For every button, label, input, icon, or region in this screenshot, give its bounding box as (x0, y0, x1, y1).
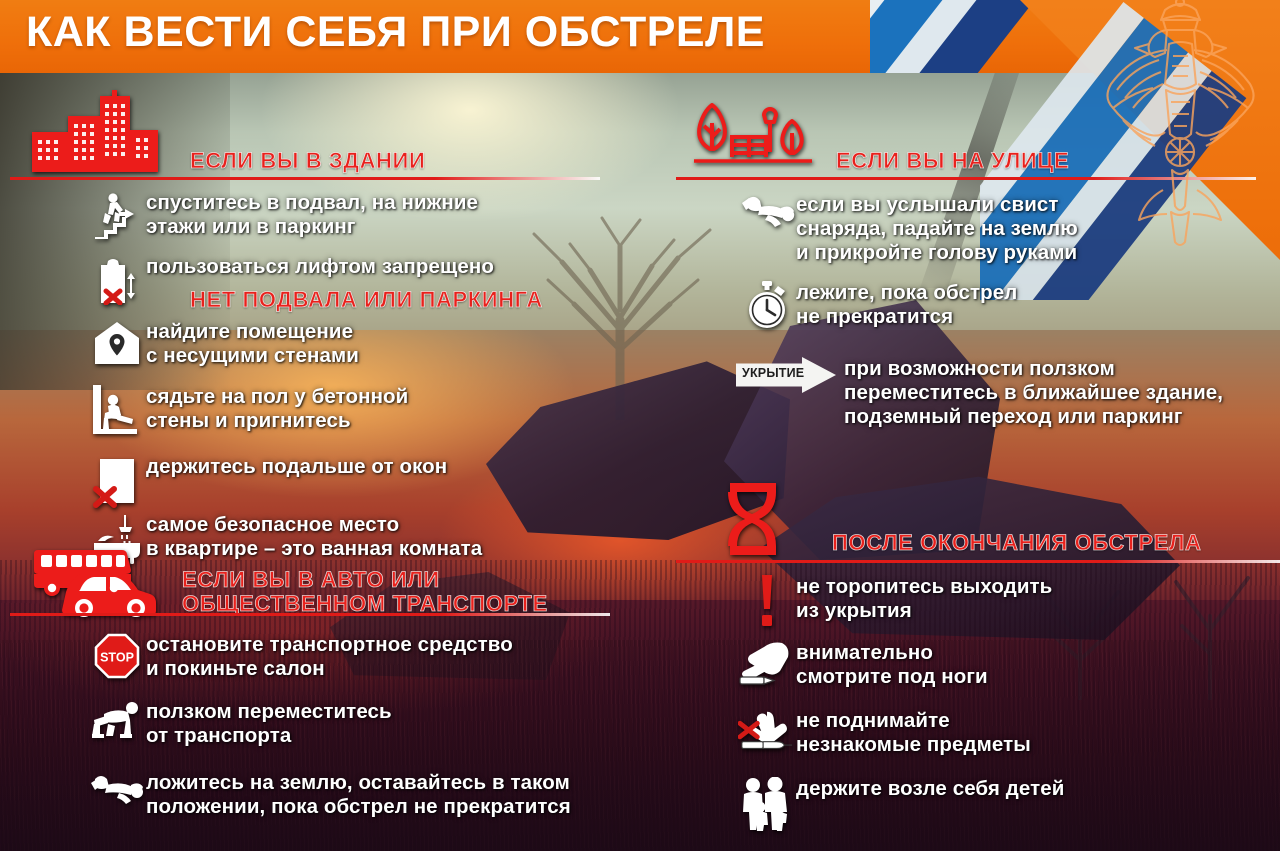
list-item: самое безопасное местов квартире – это в… (88, 513, 628, 565)
list-item: не торопитесь выходитьиз укрытия (738, 575, 1258, 627)
list-item-text: внимательносмотрите под ноги (796, 641, 988, 689)
list-item: найдите помещениес несущими стенами (88, 320, 628, 368)
list-item-text: остановите транспортное средствои покинь… (146, 633, 513, 681)
person-sitting-by-wall-icon (88, 385, 146, 435)
list-item: STOP остановите транспортное средствои п… (88, 633, 648, 681)
section-title-after-shelling: ПОСЛЕ ОКОНЧАНИЯ ОБСТРЕЛА (832, 531, 1201, 555)
no-window-icon (88, 455, 146, 509)
section-rule-in-vehicle (10, 613, 610, 616)
list-item: ползком переместитесьот транспорта (88, 700, 648, 748)
list-item-text: держитесь подальше от окон (146, 455, 447, 479)
family-with-children-icon (738, 777, 796, 831)
poster-content: ЕСЛИ ВЫ В ЗДАНИИ спус (0, 0, 1280, 851)
section-rule-after-shelling (676, 560, 1280, 563)
list-item: ложитесь на землю, оставайтесь в такомпо… (88, 771, 668, 819)
list-item: держитесь подальше от окон (88, 455, 628, 509)
city-buildings-icon (30, 90, 160, 172)
list-item-text: самое безопасное местов квартире – это в… (146, 513, 482, 561)
list-item-text: лежите, пока обстрелне прекратится (796, 281, 1017, 329)
section-rule-in-building (10, 177, 600, 180)
list-item-text: ползком переместитесьот транспорта (146, 700, 392, 748)
no-touching-unknown-object-icon (738, 709, 796, 757)
svg-text:STOP: STOP (100, 651, 134, 665)
list-item: лежите, пока обстрелне прекратится (738, 281, 1258, 331)
exclamation-mark-icon (738, 575, 796, 627)
boot-stepping-on-ordnance-icon (738, 641, 796, 687)
section-title-line-2: ОБЩЕСТВЕННОМ ТРАНСПОРТЕ (182, 591, 548, 616)
list-item-text: сядьте на пол у бетоннойстены и пригните… (146, 385, 408, 433)
bus-and-car-icon (30, 546, 160, 618)
person-lying-down-icon (88, 771, 146, 809)
stairs-down-running-person-icon (88, 191, 146, 239)
list-item: спуститесь в подвал, на нижниеэтажи или … (88, 191, 618, 239)
park-bench-tree-lamp-icon (692, 101, 812, 173)
house-location-pin-icon (88, 320, 146, 366)
list-item-text: при возможности ползкомпереместитесь в б… (844, 357, 1223, 430)
shelter-arrow-shape: УКРЫТИЕ (736, 357, 836, 393)
no-elevator-icon (88, 255, 146, 305)
list-item: УКРЫТИЕ при возможности ползкомперемести… (728, 357, 1278, 430)
section-title-in-vehicle: ЕСЛИ ВЫ В АВТО ИЛИ ОБЩЕСТВЕННОМ ТРАНСПОР… (182, 568, 612, 616)
section-title-in-building: ЕСЛИ ВЫ В ЗДАНИИ (190, 149, 425, 173)
section-title-line-1: ЕСЛИ ВЫ В АВТО ИЛИ (182, 567, 440, 592)
hourglass-icon (722, 481, 784, 559)
section-title-outdoors: ЕСЛИ ВЫ НА УЛИЦЕ (836, 149, 1069, 173)
list-item-text: ложитесь на землю, оставайтесь в такомпо… (146, 771, 571, 819)
list-item: держите возле себя детей (738, 777, 1258, 831)
person-falling-to-ground-icon (738, 193, 796, 233)
stopwatch-icon (738, 281, 796, 331)
list-item-text: если вы услышали свистснаряда, падайте н… (796, 193, 1078, 266)
stop-sign-icon: STOP (88, 633, 146, 679)
list-item-text: не торопитесь выходитьиз укрытия (796, 575, 1052, 623)
page-title: КАК ВЕСТИ СЕБЯ ПРИ ОБСТРЕЛЕ (26, 8, 765, 57)
list-item-text: пользоваться лифтом запрещено (146, 255, 494, 279)
list-item: не поднимайтенезнакомые предметы (738, 709, 1258, 757)
list-item: внимательносмотрите под ноги (738, 641, 1258, 689)
list-item-text: не поднимайтенезнакомые предметы (796, 709, 1031, 757)
emercom-double-headed-eagle-emblem (1093, 0, 1268, 284)
shelter-arrow-sign: УКРЫТИЕ (728, 357, 844, 393)
list-item: сядьте на пол у бетоннойстены и пригните… (88, 385, 628, 435)
list-item-text: держите возле себя детей (796, 777, 1064, 801)
list-item-text: найдите помещениес несущими стенами (146, 320, 359, 368)
section-title-no-basement: НЕТ ПОДВАЛА ИЛИ ПАРКИНГА (190, 288, 543, 312)
person-crawling-icon (88, 700, 146, 740)
list-item-text: спуститесь в подвал, на нижниеэтажи или … (146, 191, 478, 239)
shelter-sign-label: УКРЫТИЕ (742, 366, 802, 380)
